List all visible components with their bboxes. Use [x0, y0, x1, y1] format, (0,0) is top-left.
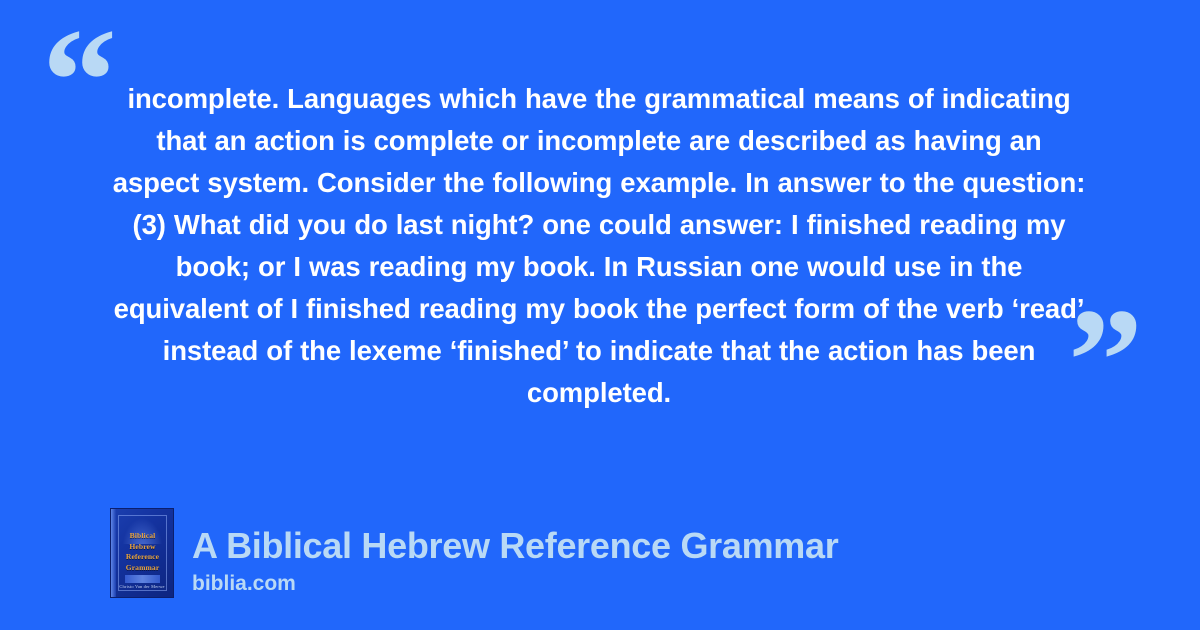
book-cover-title: Biblical Hebrew Reference Grammar: [120, 531, 165, 573]
open-quotation-mark-icon: “: [42, 6, 115, 156]
quote-text: incomplete. Languages which have the gra…: [110, 78, 1088, 414]
book-cover-title-line: Biblical: [120, 531, 165, 542]
footer: Biblical Hebrew Reference Grammar Christ…: [110, 508, 838, 598]
book-cover-author: Christo Van der Merwe: [117, 584, 167, 590]
book-spine: [111, 509, 116, 597]
book-title: A Biblical Hebrew Reference Grammar: [192, 525, 838, 567]
book-cover-title-line: Hebrew: [120, 542, 165, 553]
book-cover-title-line: Grammar: [120, 563, 165, 574]
book-cover-title-line: Reference: [120, 552, 165, 563]
footer-text-block: A Biblical Hebrew Reference Grammar bibl…: [192, 525, 838, 598]
book-cover-band: [125, 575, 160, 583]
quote-card: “ incomplete. Languages which have the g…: [0, 0, 1200, 630]
site-url[interactable]: biblia.com: [192, 571, 838, 596]
close-quotation-mark-icon: ”: [1068, 286, 1141, 436]
book-cover-thumbnail[interactable]: Biblical Hebrew Reference Grammar Christ…: [110, 508, 174, 598]
